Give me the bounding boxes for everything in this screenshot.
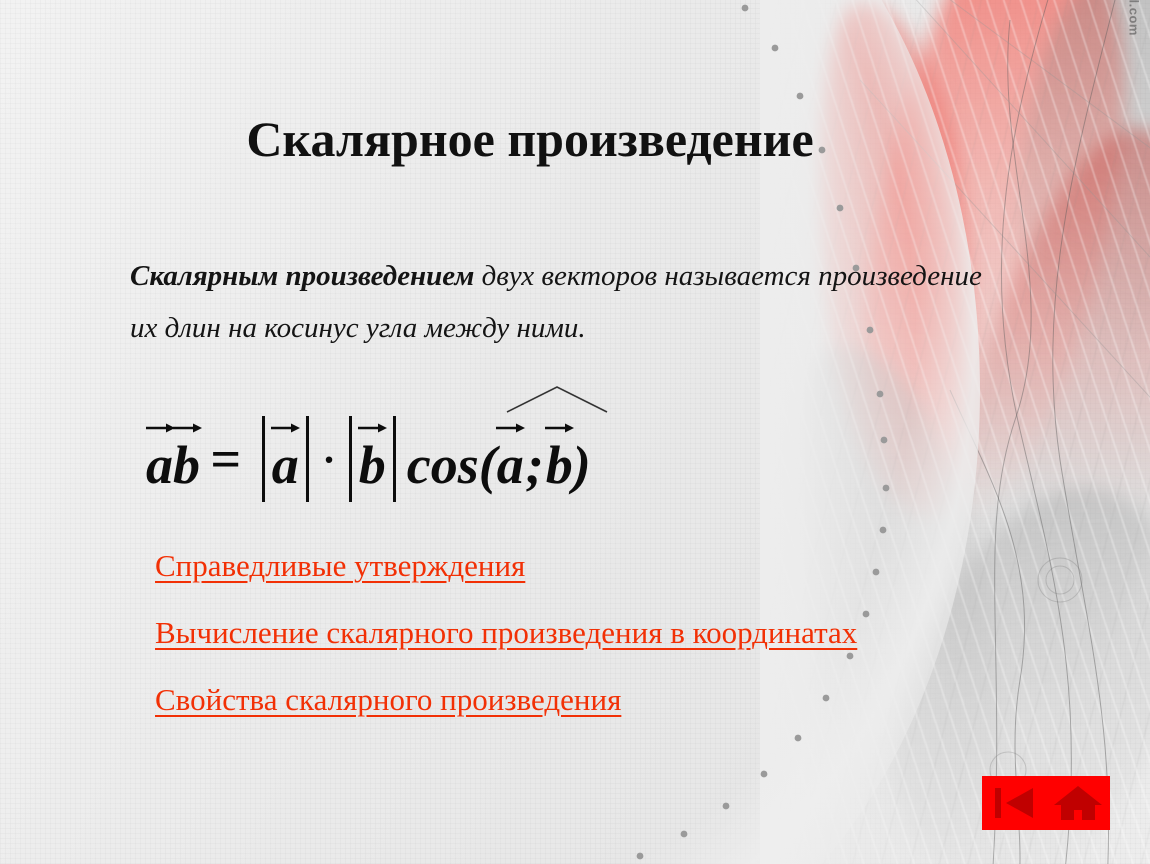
definition-term: Скалярным произведением bbox=[130, 260, 474, 292]
vector-b-magnitude: b bbox=[359, 418, 386, 492]
formula-close-paren: ) bbox=[573, 438, 591, 492]
slide: ENERGYpixel.com Скалярное пр bbox=[0, 0, 1150, 864]
formula-letter-a: a bbox=[272, 438, 299, 492]
formula-letter-a: a bbox=[497, 438, 524, 492]
link-computation-in-coordinates[interactable]: Вычисление скалярного произведения в коо… bbox=[155, 617, 857, 648]
slide-content: Скалярное произведение Скалярным произве… bbox=[0, 0, 1150, 864]
navigation-bar bbox=[982, 776, 1110, 830]
vector-arrow-icon bbox=[495, 420, 525, 434]
link-valid-statements[interactable]: Справедливые утверждения bbox=[155, 550, 525, 581]
skip-back-icon bbox=[988, 781, 1040, 825]
vector-a-left: a bbox=[146, 418, 173, 492]
abs-bar-close-b bbox=[393, 416, 396, 502]
vector-arrow-icon bbox=[357, 420, 387, 434]
angle-hat-icon bbox=[503, 384, 611, 414]
vector-arrow-icon bbox=[270, 420, 300, 434]
formula-multiplication-dot: · bbox=[316, 440, 342, 492]
definition-paragraph: Скалярным произведением двух векторов на… bbox=[130, 251, 990, 354]
formula-letter-b: b bbox=[359, 438, 386, 492]
abs-bar-open-b bbox=[349, 416, 352, 502]
formula-letter-b: b bbox=[173, 438, 200, 492]
formula-letter-a: a bbox=[146, 438, 173, 492]
formula-semicolon: ; bbox=[524, 438, 546, 492]
vector-b-angle: b bbox=[546, 418, 573, 492]
link-properties[interactable]: Свойства скалярного произведения bbox=[155, 684, 621, 715]
abs-bar-close-a bbox=[306, 416, 309, 502]
vector-a-magnitude: a bbox=[272, 418, 299, 492]
scalar-product-formula: a b = a · bbox=[146, 406, 591, 492]
formula-equals-sign: = bbox=[200, 432, 255, 492]
vector-a-angle: a bbox=[497, 418, 524, 492]
vector-b-left: b bbox=[173, 418, 200, 492]
formula-cos-open: cos( bbox=[403, 438, 497, 492]
abs-bar-open-a bbox=[262, 416, 265, 502]
hyperlink-list: Справедливые утверждения Вычисление скал… bbox=[155, 550, 857, 751]
previous-slide-button[interactable] bbox=[988, 781, 1040, 825]
vector-arrow-icon bbox=[544, 420, 574, 434]
vector-arrow-icon bbox=[172, 420, 202, 434]
formula-letter-b: b bbox=[546, 438, 573, 492]
home-icon bbox=[1052, 781, 1104, 825]
angle-expression: a ; b bbox=[497, 418, 573, 492]
vector-arrow-icon bbox=[145, 420, 175, 434]
home-button[interactable] bbox=[1052, 781, 1104, 825]
page-title: Скалярное произведение bbox=[0, 112, 1060, 167]
